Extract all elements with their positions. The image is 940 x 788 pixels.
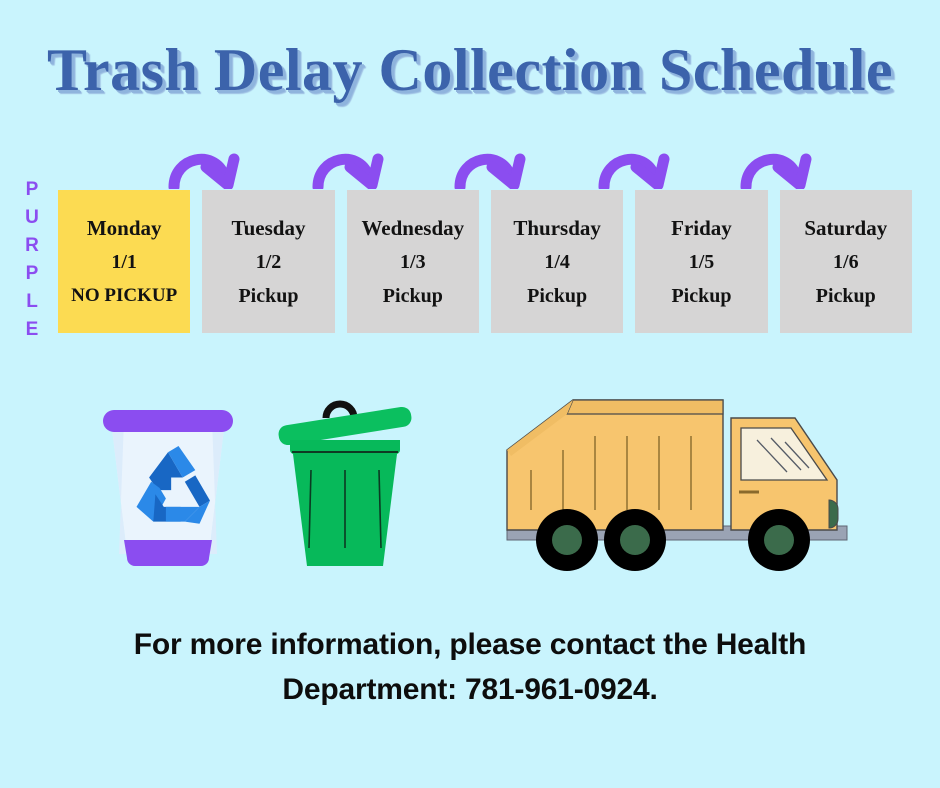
illustration-row bbox=[0, 388, 940, 588]
card-day-name: Thursday bbox=[513, 211, 601, 245]
arrow-row bbox=[0, 141, 940, 189]
card-day-name: Saturday bbox=[804, 211, 887, 245]
schedule-card-friday: Friday 1/5 Pickup bbox=[635, 190, 767, 333]
schedule-card-wednesday: Wednesday 1/3 Pickup bbox=[347, 190, 479, 333]
garbage-truck-icon bbox=[495, 388, 865, 583]
curved-arrow-icon bbox=[166, 141, 252, 189]
curved-arrow-icon bbox=[310, 141, 396, 189]
card-day-name: Tuesday bbox=[232, 211, 306, 245]
schedule-card-monday: Monday 1/1 NO PICKUP bbox=[58, 190, 190, 333]
curved-arrow-icon bbox=[596, 141, 682, 189]
schedule-card-thursday: Thursday 1/4 Pickup bbox=[491, 190, 623, 333]
card-date: 1/6 bbox=[833, 245, 859, 279]
curved-arrow-icon bbox=[738, 141, 824, 189]
card-status: Pickup bbox=[816, 279, 876, 313]
schedule-card-saturday: Saturday 1/6 Pickup bbox=[780, 190, 912, 333]
route-label-letter: P bbox=[26, 180, 39, 200]
card-day-name: Monday bbox=[87, 211, 162, 245]
curved-arrow-icon bbox=[452, 141, 538, 189]
route-label-letter: R bbox=[25, 236, 39, 256]
card-status: Pickup bbox=[383, 279, 443, 313]
route-label-letter: U bbox=[25, 208, 39, 228]
page-title-container: Trash Delay Collection Schedule bbox=[0, 36, 940, 104]
card-status: Pickup bbox=[671, 279, 731, 313]
trash-can-icon bbox=[270, 388, 420, 583]
card-status: Pickup bbox=[527, 279, 587, 313]
card-day-name: Friday bbox=[671, 211, 732, 245]
card-date: 1/3 bbox=[400, 245, 426, 279]
recycle-bin-icon bbox=[88, 388, 248, 583]
schedule-card-tuesday: Tuesday 1/2 Pickup bbox=[202, 190, 334, 333]
route-label-purple: P U R P L E bbox=[18, 180, 46, 340]
footer-line-1: For more information, please contact the… bbox=[70, 622, 870, 667]
footer-line-2: Department: 781-961-0924. bbox=[70, 667, 870, 712]
route-label-letter: L bbox=[26, 292, 38, 312]
card-date: 1/4 bbox=[544, 245, 570, 279]
schedule-card-row: Monday 1/1 NO PICKUP Tuesday 1/2 Pickup … bbox=[58, 190, 912, 333]
card-date: 1/5 bbox=[689, 245, 715, 279]
route-label-letter: P bbox=[26, 264, 39, 284]
card-date: 1/1 bbox=[111, 245, 137, 279]
card-status: NO PICKUP bbox=[71, 279, 177, 313]
card-day-name: Wednesday bbox=[361, 211, 464, 245]
card-date: 1/2 bbox=[256, 245, 282, 279]
route-label-letter: E bbox=[26, 320, 39, 340]
footer-contact-info: For more information, please contact the… bbox=[70, 622, 870, 712]
card-status: Pickup bbox=[238, 279, 298, 313]
page-title: Trash Delay Collection Schedule bbox=[47, 36, 893, 104]
